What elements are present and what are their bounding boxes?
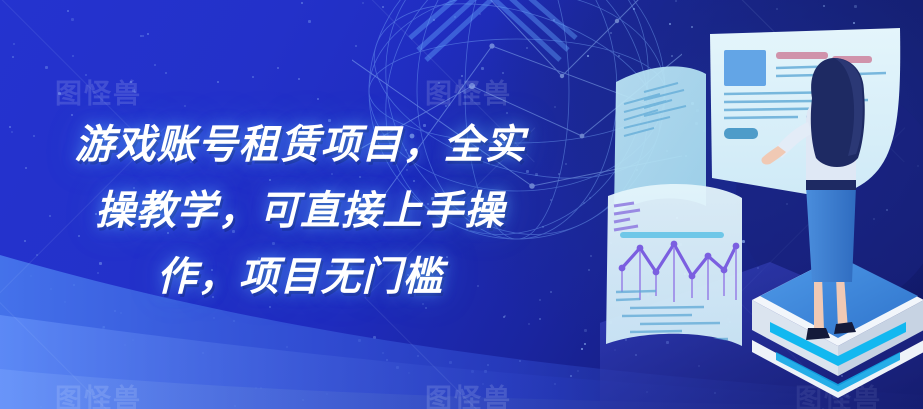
image-block <box>724 50 766 86</box>
button-block <box>724 128 758 139</box>
watermark-text: 图怪兽 <box>55 377 142 409</box>
screen-top-right <box>710 28 900 198</box>
skirt <box>806 186 856 282</box>
screen-bottom-left <box>606 184 742 346</box>
watermark-text: 图怪兽 <box>425 72 512 111</box>
promo-banner: 图怪兽图怪兽图怪兽图怪兽图怪兽图怪兽图怪兽图怪兽图怪兽图怪兽图怪兽图怪兽图怪兽图… <box>0 0 923 409</box>
illustration <box>600 0 923 409</box>
progress-bar <box>620 232 724 238</box>
watermark-text: 图怪兽 <box>425 377 512 409</box>
page-title: 游戏账号租赁项目，全实 操教学，可直接上手操 作，项目无门槛 <box>0 112 600 310</box>
watermark-text: 图怪兽 <box>55 72 142 111</box>
accent-bar <box>776 52 828 59</box>
shoe <box>806 328 830 340</box>
